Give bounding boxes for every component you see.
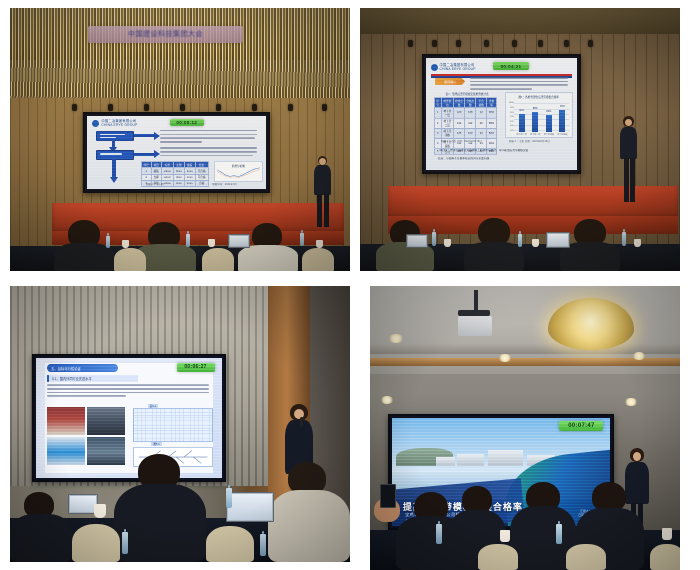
- smartphone: [380, 484, 396, 508]
- tea-cup: [316, 240, 323, 248]
- laptop: [226, 492, 274, 522]
- company-logo-icon: [92, 120, 99, 127]
- audience-body: [238, 245, 298, 271]
- speaker-male: [310, 156, 336, 234]
- slide-building: [436, 457, 456, 466]
- cell: 112: [465, 118, 476, 128]
- panel-bottom-left: 五、目标可行性论证 00:06:27 5.1、国内外同行业先进水平: [10, 286, 350, 562]
- section-title-pill: 五、目标可行性论证: [47, 364, 118, 372]
- cell: 120: [454, 108, 465, 118]
- water-bottle: [622, 232, 626, 246]
- water-bottle: [518, 234, 522, 247]
- slide-line-chart: 趋势分析图: [214, 161, 263, 182]
- slide-timer-badge: 00:04:21: [493, 62, 529, 70]
- photo-tile-training: [47, 437, 85, 465]
- slide-top-left: 中国二冶集团有限公司 CHINA ERYE GROUP 00:05:12: [87, 116, 266, 189]
- slide-footer-right: 制图时间：2024年3月: [212, 183, 237, 187]
- company-logo-label: 中国二冶集团有限公司 CHINA ERYE GROUP: [440, 63, 476, 71]
- chair: [206, 526, 254, 562]
- hall-ceiling: [360, 8, 680, 34]
- callout-label: 要因确认: [435, 78, 465, 85]
- slide-footer-left: 制图人：王小明: [146, 183, 163, 187]
- slide-header: 中国二冶集团有限公司 CHINA ERYE GROUP 00:05:12: [92, 119, 260, 128]
- bar-label: 90%: [519, 109, 524, 112]
- flow-box-1: [96, 131, 134, 142]
- bar-chart-y-axis: 100% 90% 80% 70% 60% 50% 40%: [507, 102, 514, 132]
- chair: [72, 524, 120, 562]
- table-row: 3 地下室顶板 125 103 22 82%: [434, 128, 496, 138]
- tea-cup: [532, 239, 539, 247]
- laptop: [546, 232, 570, 248]
- cell: 108: [465, 108, 476, 118]
- microphone-icon: [300, 417, 303, 427]
- th: 检查部位: [441, 98, 453, 108]
- tea-cup: [634, 239, 641, 247]
- water-bottle: [556, 524, 562, 544]
- flow-arrow-right-2: [134, 153, 155, 156]
- cell: 0mm: [184, 180, 195, 186]
- bar: 90%: [559, 110, 565, 132]
- y-tick: 70%: [510, 116, 514, 118]
- bar-label: 82%: [546, 110, 551, 113]
- laptop: [406, 234, 428, 248]
- cell: 地下室一层: [441, 108, 453, 118]
- slide-note-1: 【结论】：经过小组成员对现场施工的调查与统计，可以看出后浇带模板安装: [438, 149, 568, 153]
- led-screen-top-right: 中国二冶集团有限公司 CHINA ERYE GROUP 00:04:21 要因确…: [422, 54, 581, 174]
- cell: 90%: [487, 138, 497, 148]
- flow-arrow-down-1: [112, 140, 115, 148]
- water-bottle: [300, 233, 304, 246]
- tea-cup: [122, 240, 129, 248]
- data-table-caption: 表5-1: [148, 404, 158, 408]
- company-logo-label: 中国二冶集团有限公司 CHINA ERYE GROUP: [101, 119, 137, 127]
- led-screen-bottom-left: 五、目标可行性论证 00:06:27 5.1、国内外同行业先进水平: [32, 354, 226, 482]
- table-caption: 表1：现场后浇带模板安装检查统计表: [446, 92, 489, 96]
- x-tick: 地下室顶板: [544, 133, 554, 137]
- panel-top-left: 中国建设科技集团大会 中国二冶集团有限公司 CHINA ERYE GROUP: [10, 8, 350, 271]
- slide-paragraph: [47, 384, 211, 399]
- slide-timer-badge: 00:05:12: [170, 119, 204, 126]
- event-banner-text: 中国建设科技集团大会: [88, 26, 243, 43]
- event-banner: 中国建设科技集团大会: [88, 26, 243, 43]
- slide-bar-chart: 图1：各检查部位后浇带模板合格率 100% 90% 80% 70% 60%: [505, 92, 573, 139]
- slide-bottom-left: 五、目标可行性论证 00:06:27 5.1、国内外同行业先进水平: [36, 358, 222, 478]
- water-bottle: [260, 534, 266, 556]
- cell: 132: [454, 118, 465, 128]
- subsection-title: 5.1、国内外同行业先进水平: [52, 376, 92, 381]
- water-bottle: [122, 532, 128, 554]
- y-tick: 60%: [510, 121, 514, 123]
- table-row: 2 地下室二层 132 112 20 85%: [434, 118, 496, 128]
- cell: 125: [454, 128, 465, 138]
- cell: 22: [476, 128, 487, 138]
- bar-label: 90%: [560, 105, 565, 108]
- bar-label: 85%: [533, 107, 538, 110]
- cell: 地下室顶板: [441, 128, 453, 138]
- photo-collage: 中国建设科技集团大会 中国二冶集团有限公司 CHINA ERYE GROUP: [0, 0, 700, 570]
- subsection-title-bar: 5.1、国内外同行业先进水平: [47, 375, 138, 382]
- flow-arrow-down-2: [112, 159, 116, 178]
- cell: 90%: [487, 108, 497, 118]
- chart-footer-right: 制表人：王磊 日期：2024年8月15日: [509, 140, 550, 144]
- cell: 地下室二层: [441, 118, 453, 128]
- laptop: [228, 234, 250, 248]
- th: 检查点数: [454, 98, 465, 108]
- x-tick: 地下室底板: [557, 133, 567, 137]
- company-name-en: CHINA ERYE GROUP: [101, 123, 137, 127]
- water-bottle: [432, 232, 436, 246]
- y-tick: 100%: [509, 102, 514, 104]
- cell: 2: [434, 118, 441, 128]
- slide-building: [488, 450, 523, 465]
- ceiling-projector: [458, 316, 492, 336]
- company-name-en: CHINA ERYE GROUP: [440, 67, 476, 71]
- audience-body: [54, 243, 114, 271]
- slide-intro-paragraph: [470, 77, 570, 92]
- water-bottle: [226, 488, 232, 508]
- x-tick: 地下室二层: [530, 133, 540, 137]
- panel-bottom-right: 00:07:47 提高后浇带模板安装合格率 宝鸡二建筑工程有限公司精益QC小组 …: [370, 286, 680, 570]
- cell: 82%: [487, 128, 497, 138]
- ceiling-downlight: [388, 334, 404, 343]
- chair: [650, 544, 680, 570]
- cell: 合格: [195, 180, 208, 186]
- slide-note-2: 结论：小组将不合格率较高的列为主要问题: [438, 157, 568, 161]
- bar: 85%: [532, 112, 538, 132]
- chair: [202, 248, 234, 271]
- tea-cup: [500, 530, 510, 542]
- cell: 12: [476, 108, 487, 118]
- water-bottle: [186, 234, 190, 247]
- cell: 1: [434, 108, 441, 118]
- y-tick: 50%: [510, 125, 514, 127]
- chair: [566, 544, 606, 570]
- th: 合格点数: [465, 98, 476, 108]
- slide-mini-table: [133, 408, 213, 441]
- ceiling-downlight: [632, 352, 646, 360]
- th: 序号: [434, 98, 441, 108]
- ceiling-downlight: [380, 396, 394, 404]
- bar-chart-x-axis: 地下室一层 地下室二层 地下室顶板 地下室底板: [515, 133, 569, 137]
- panel-top-right: 中国二冶集团有限公司 CHINA ERYE GROUP 00:04:21 要因确…: [360, 8, 680, 271]
- y-tick: 90%: [510, 107, 514, 109]
- tea-cup: [94, 504, 106, 518]
- y-tick: 80%: [510, 112, 514, 114]
- flow-arrow-right-1: [134, 134, 155, 137]
- bar: 90%: [519, 114, 525, 132]
- cell: 2mm: [174, 180, 185, 186]
- tea-cup: [208, 239, 215, 247]
- audience-body: [268, 490, 350, 562]
- slide-header: 中国二冶集团有限公司 CHINA ERYE GROUP 00:04:21: [431, 62, 573, 78]
- cell: 85%: [487, 118, 497, 128]
- chair: [478, 544, 518, 570]
- th: 不合格数: [476, 98, 487, 108]
- tea-cup: [444, 239, 451, 247]
- cell: 3: [434, 128, 441, 138]
- water-bottle: [106, 236, 110, 248]
- bar: 82%: [546, 115, 552, 132]
- tea-cup: [662, 528, 672, 540]
- chair: [302, 248, 334, 271]
- slide-paragraph-1: [160, 130, 258, 145]
- photo-tile-team: [47, 407, 85, 435]
- chair: [114, 248, 146, 271]
- slide-top-right: 中国二冶集团有限公司 CHINA ERYE GROUP 00:04:21 要因确…: [426, 58, 577, 170]
- slide-data-table: 序号 检查部位 检查点数 合格点数 不合格数 合格率 1 地下室一层 120 1…: [434, 97, 497, 155]
- slide-timer-badge: 00:06:27: [177, 363, 215, 372]
- chart-footer-left: 制图人：王磊 日期：2024年8月15日: [441, 140, 482, 144]
- ceiling-downlight: [498, 354, 512, 362]
- y-tick: 40%: [510, 130, 514, 132]
- photo-tile-site: [87, 407, 125, 435]
- table-row: 1 地下室一层 120 108 12 90%: [434, 108, 496, 118]
- slide-paragraph-2: [160, 147, 258, 158]
- led-screen-top-left: 中国二冶集团有限公司 CHINA ERYE GROUP 00:05:12: [83, 112, 270, 193]
- audience-body: [464, 242, 524, 271]
- slide-building: [457, 454, 483, 466]
- diagram-caption: 图5-1: [151, 442, 161, 446]
- slide-timer-badge: 00:07:47: [559, 421, 603, 431]
- audience-body: [10, 514, 72, 562]
- bar-chart-bars: 90% 85% 82% 90%: [515, 104, 569, 132]
- slide-photo-grid: [47, 407, 125, 465]
- section-title: 五、目标可行性论证: [51, 366, 81, 371]
- speaker-female: [616, 116, 642, 210]
- crystal-chandelier-lower: [10, 60, 350, 98]
- th: 合格率: [487, 98, 497, 108]
- bar-chart-title: 图1：各检查部位后浇带模板合格率: [506, 95, 572, 99]
- water-bottle: [436, 524, 442, 544]
- ceiling-downlight: [624, 398, 638, 406]
- photo-tile-formwork: [87, 437, 125, 465]
- company-logo-icon: [431, 64, 438, 71]
- x-tick: 地下室一层: [516, 133, 526, 137]
- ceiling-cove: [370, 358, 680, 366]
- cell: 20: [476, 118, 487, 128]
- cell: 103: [465, 128, 476, 138]
